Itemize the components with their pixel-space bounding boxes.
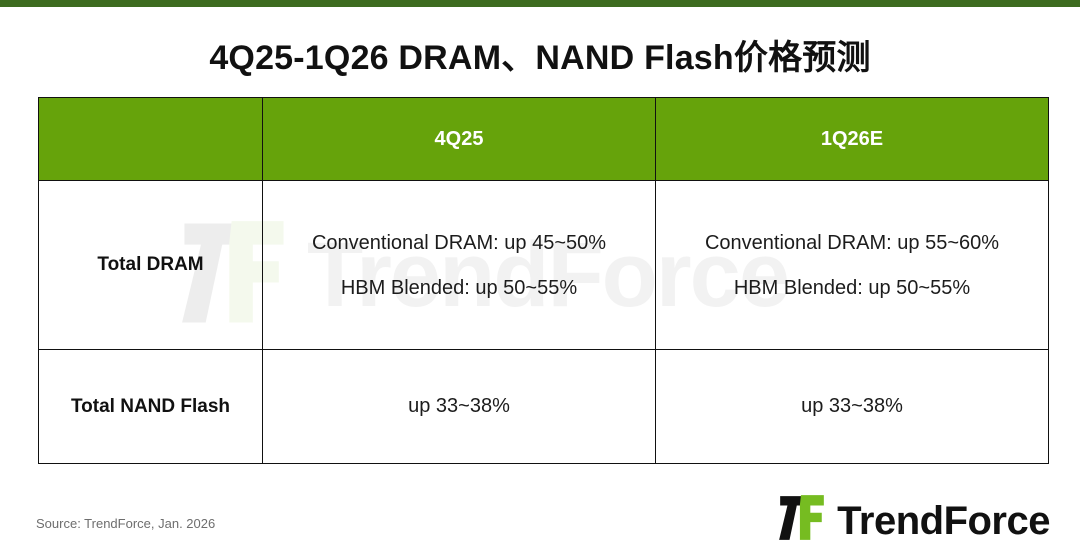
row-label-total-nand-flash: Total NAND Flash [39, 350, 263, 464]
cell-line: up 33~38% [801, 395, 903, 417]
cell-total-dram-4q25: Conventional DRAM: up 45~50% HBM Blended… [263, 181, 656, 350]
table-header-row: 4Q25 1Q26E [39, 98, 1049, 181]
page-title: 4Q25-1Q26 DRAM、NAND Flash价格预测 [0, 30, 1080, 79]
top-accent-strip [0, 0, 1080, 7]
trendforce-mark-icon [776, 492, 828, 549]
source-note: Source: TrendForce, Jan. 2026 [36, 516, 215, 531]
trendforce-logo-text: TrendForce [837, 501, 1050, 541]
cell-line: Conventional DRAM: up 45~50% [263, 233, 655, 253]
cell-line: Conventional DRAM: up 55~60% [656, 233, 1048, 253]
table-row: Total NAND Flash up 33~38% up 33~38% [39, 350, 1049, 464]
cell-total-dram-1q26e: Conventional DRAM: up 55~60% HBM Blended… [656, 181, 1049, 350]
table-header: 4Q25 1Q26E [39, 98, 1049, 181]
cell-line: up 33~38% [408, 395, 510, 417]
trendforce-logo: TrendForce [776, 492, 1050, 549]
column-header-4q25: 4Q25 [263, 98, 656, 181]
table-row: Total DRAM Conventional DRAM: up 45~50% … [39, 181, 1049, 350]
row-label-total-dram: Total DRAM [39, 181, 263, 350]
cell-total-nand-1q26e: up 33~38% [656, 350, 1049, 464]
cell-line: HBM Blended: up 50~55% [263, 278, 655, 298]
cell-text-group: Conventional DRAM: up 45~50% HBM Blended… [263, 233, 655, 298]
column-header-1q26e: 1Q26E [656, 98, 1049, 181]
price-forecast-table: 4Q25 1Q26E Total DRAM Conventional DRAM:… [38, 97, 1049, 464]
cell-text-group: Conventional DRAM: up 55~60% HBM Blended… [656, 233, 1048, 298]
cell-line: HBM Blended: up 50~55% [656, 278, 1048, 298]
cell-total-nand-4q25: up 33~38% [263, 350, 656, 464]
table-body: Total DRAM Conventional DRAM: up 45~50% … [39, 181, 1049, 464]
column-header-blank [39, 98, 263, 181]
